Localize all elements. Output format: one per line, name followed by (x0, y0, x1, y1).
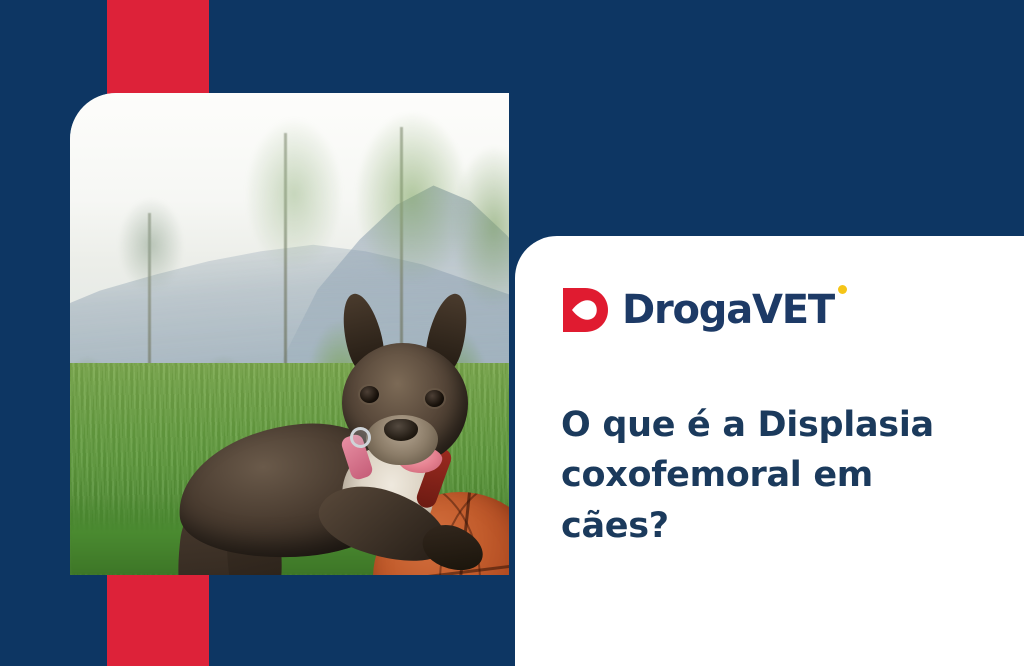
hero-photo (70, 93, 509, 575)
dog-eye-right (425, 390, 444, 407)
drogavet-wordmark: DrogaVET (622, 290, 834, 330)
dog-eye-left (360, 386, 379, 403)
dog-nose (384, 419, 418, 441)
content-panel: DrogaVET O que é a Displasia coxofemoral… (515, 236, 1024, 666)
poster-canvas: DrogaVET O que é a Displasia coxofemoral… (0, 0, 1024, 666)
drogavet-logo-mark (559, 284, 611, 336)
page-title: O que é a Displasia coxofemoral em cães? (561, 400, 961, 551)
dog-figure (70, 93, 509, 575)
hero-photo-card (70, 93, 509, 575)
drogavet-logo: DrogaVET (559, 284, 834, 336)
drogavet-logo-dot (838, 285, 847, 294)
